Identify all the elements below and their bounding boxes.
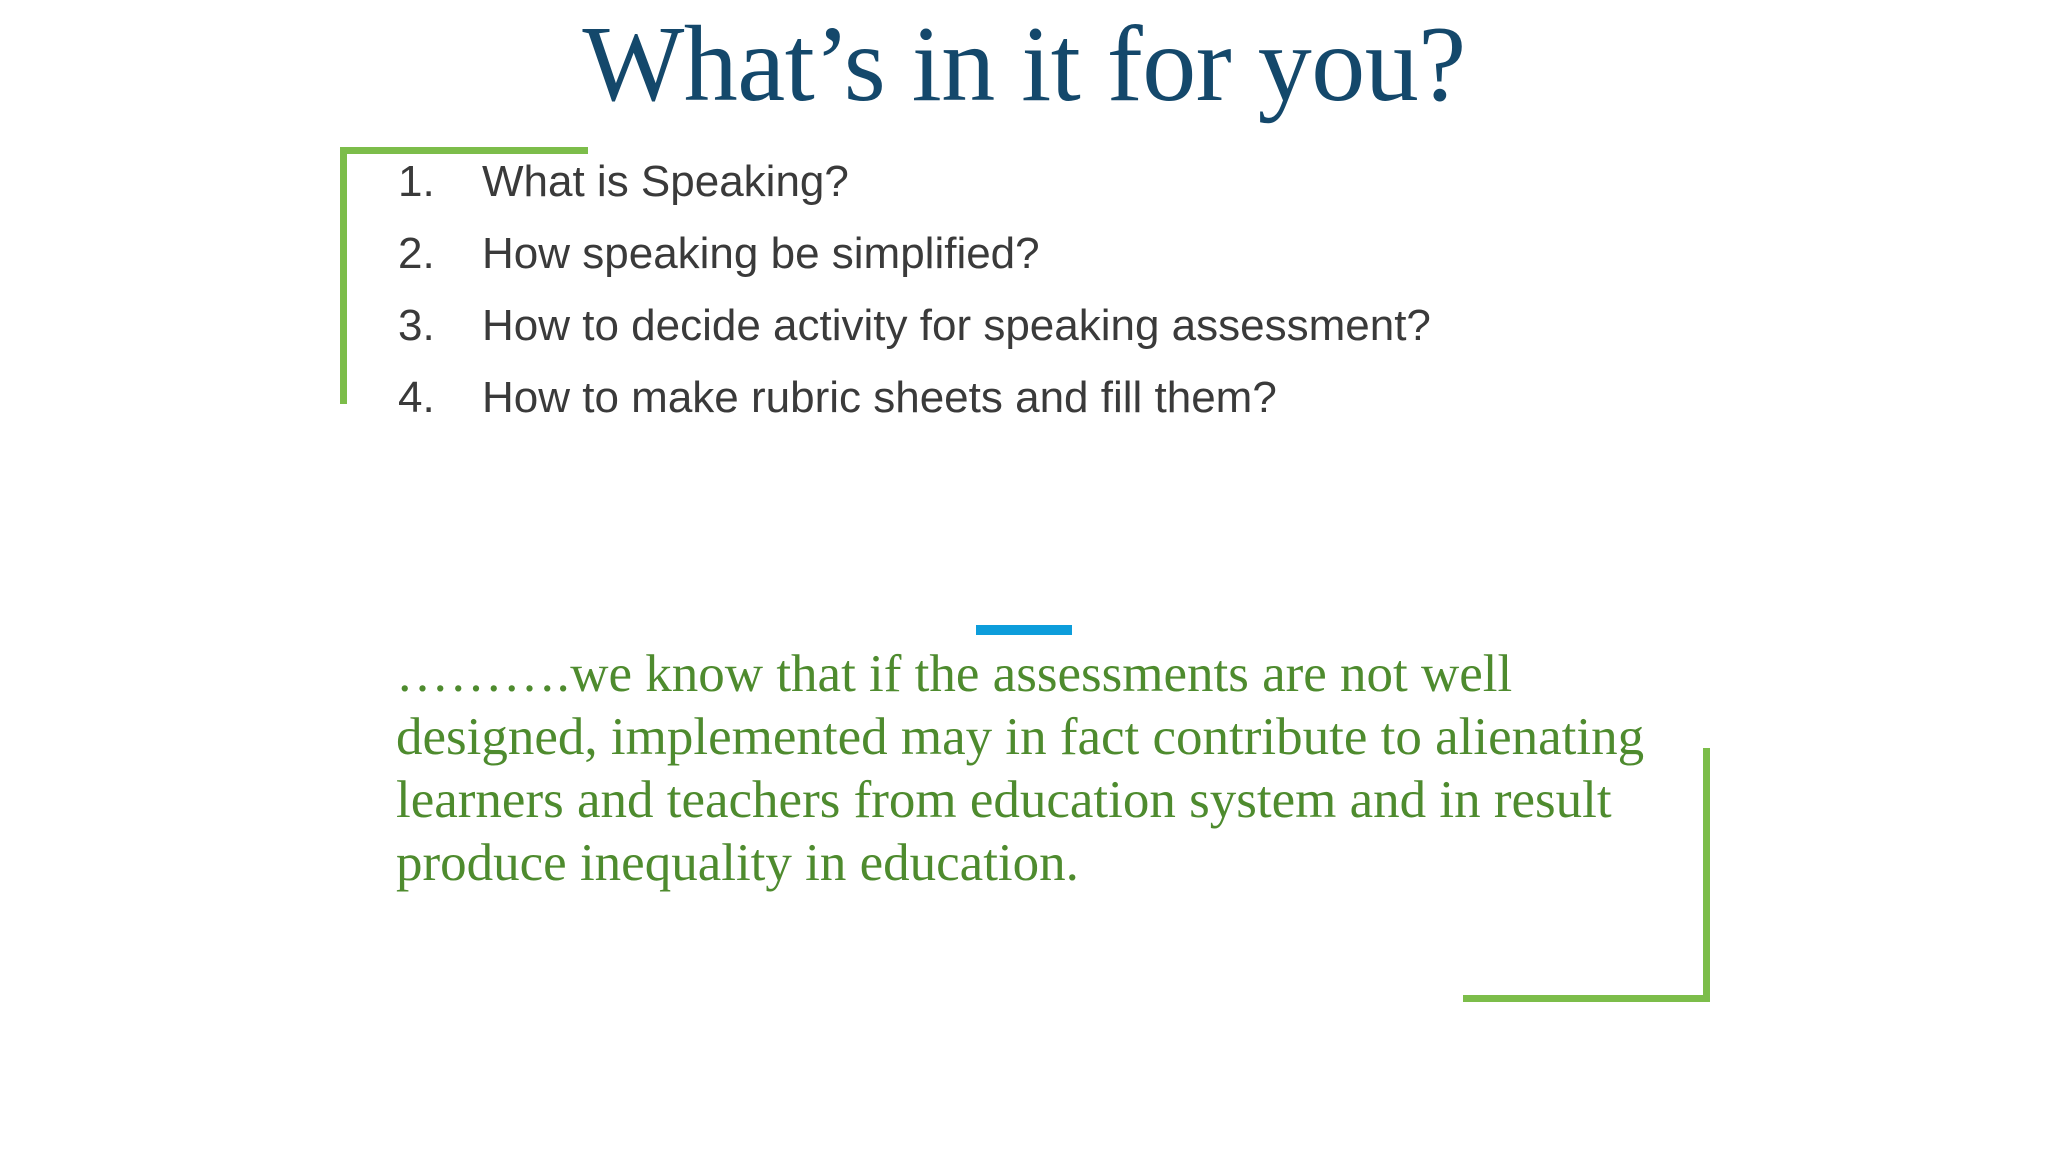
agenda-list: 1. What is Speaking? 2. How speaking be … [398,146,1818,434]
quote-accent-bar [976,625,1072,635]
list-item-number: 4. [398,362,482,434]
quote-text: ……….we know that if the assessments are … [396,643,1716,895]
quote-line-1: we know that if the assessments are not … [570,645,1512,703]
quote-line-2: designed, implemented may in fact contri… [396,708,1422,766]
list-item: 4. How to make rubric sheets and fill th… [398,362,1818,434]
quote-bracket-right-line [1703,748,1710,1002]
list-item: 1. What is Speaking? [398,146,1818,218]
page-title: What’s in it for you? [0,8,2048,121]
quote-bracket-bottom-line [1463,995,1710,1002]
list-item-label: What is Speaking? [482,146,1818,218]
slide-canvas: What’s in it for you? 1. What is Speakin… [0,0,2048,1152]
list-item: 2. How speaking be simplified? [398,218,1818,290]
agenda-bracket-left-line [340,147,347,404]
list-item-label: How speaking be simplified? [482,218,1818,290]
quote-leader-dots: ………. [396,645,570,703]
list-item-label: How to make rubric sheets and fill them? [482,362,1818,434]
list-item: 3. How to decide activity for speaking a… [398,290,1818,362]
list-item-number: 3. [398,290,482,362]
list-item-number: 2. [398,218,482,290]
list-item-number: 1. [398,146,482,218]
list-item-label: How to decide activity for speaking asse… [482,290,1818,362]
